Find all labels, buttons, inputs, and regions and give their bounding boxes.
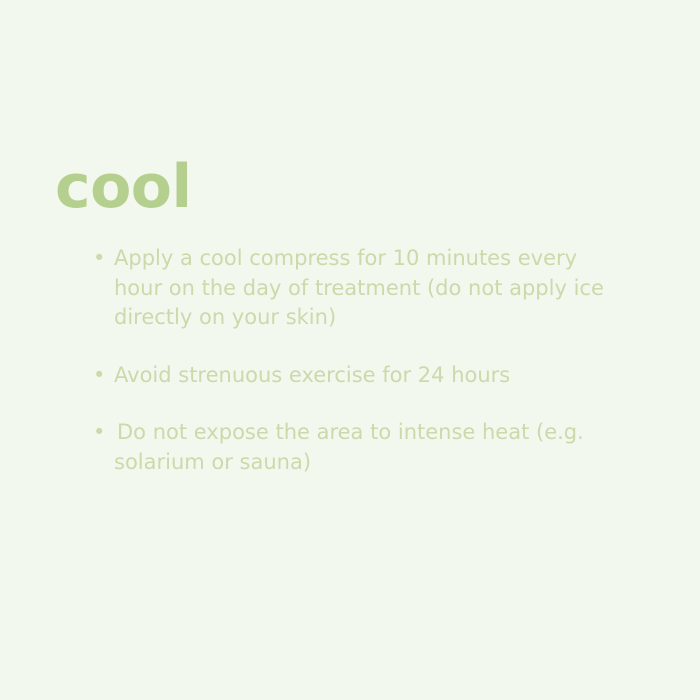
- page-title: cool: [55, 152, 192, 222]
- list-item: • Avoid strenuous exercise for 24 hours: [88, 361, 628, 391]
- list-item: • Do not expose the area to intense heat…: [88, 418, 628, 477]
- bullet-dot-icon: •: [93, 418, 105, 448]
- bullet-dot-icon: •: [93, 361, 105, 391]
- bullet-dot-icon: •: [93, 244, 105, 274]
- list-item-text: Apply a cool compress for 10 minutes eve…: [114, 244, 628, 333]
- aftercare-slide: cool • Apply a cool compress for 10 minu…: [0, 0, 700, 700]
- list-item-text: Do not expose the area to intense heat (…: [114, 418, 628, 477]
- list-item-text: Avoid strenuous exercise for 24 hours: [114, 361, 628, 391]
- list-item: • Apply a cool compress for 10 minutes e…: [88, 244, 628, 333]
- aftercare-instructions-list: • Apply a cool compress for 10 minutes e…: [88, 244, 628, 477]
